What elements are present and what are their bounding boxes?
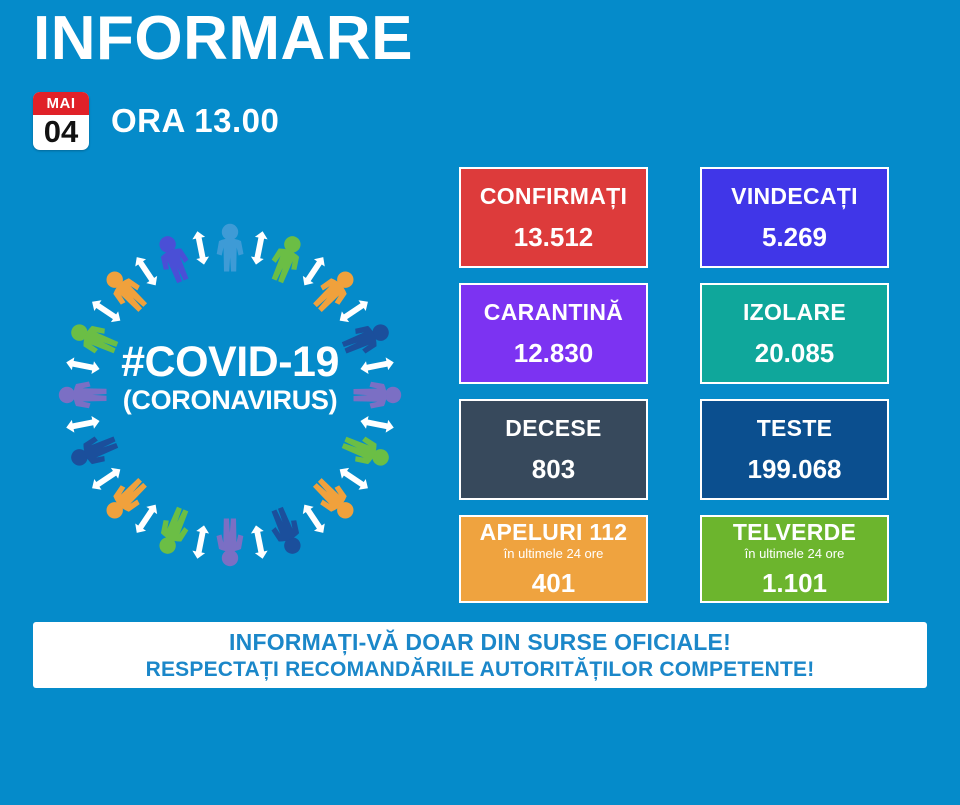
page-title: INFORMARE — [33, 8, 413, 70]
stat-card-decese: DECESE803 — [459, 399, 648, 500]
stat-card-telverde: TELVERDEîn ultimele 24 ore1.101 — [700, 515, 889, 603]
calendar-day: 04 — [33, 115, 89, 150]
stat-label: APELURI 112 — [480, 520, 628, 545]
stat-label: IZOLARE — [743, 300, 846, 325]
stat-label: CARANTINĂ — [484, 300, 623, 325]
stat-value: 5.269 — [762, 223, 827, 252]
stat-value: 12.830 — [514, 339, 594, 368]
official-sources-banner: INFORMAȚI-VĂ DOAR DIN SURSE OFICIALE! RE… — [33, 622, 927, 688]
stat-value: 803 — [532, 455, 575, 484]
footer: GUVERNUL ROMÂNIEI — [0, 700, 960, 805]
people-circle-icon: #COVID-19 (CORONAVIRUS) — [20, 185, 440, 605]
banner-line-2: RESPECTAȚI RECOMANDĂRILE AUTORITĂȚILOR C… — [146, 658, 815, 682]
stat-value: 13.512 — [514, 223, 594, 252]
stat-label: TELVERDE — [733, 520, 856, 545]
stat-sublabel: în ultimele 24 ore — [504, 547, 604, 561]
banner-line-1: INFORMAȚI-VĂ DOAR DIN SURSE OFICIALE! — [229, 629, 731, 656]
stat-card-grid: CONFIRMAȚI13.512VINDECAȚI5.269CARANTINĂ1… — [459, 167, 889, 603]
stat-sublabel: în ultimele 24 ore — [745, 547, 845, 561]
stat-card-teste: TESTE199.068 — [700, 399, 889, 500]
stat-value: 20.085 — [755, 339, 835, 368]
stat-value: 199.068 — [748, 455, 842, 484]
stat-card-carantin: CARANTINĂ12.830 — [459, 283, 648, 384]
infographic-page: INFORMARE MAI 04 ORA 13.00 — [0, 0, 960, 805]
stat-label: CONFIRMAȚI — [480, 184, 627, 209]
stat-card-confirma-i: CONFIRMAȚI13.512 — [459, 167, 648, 268]
stat-label: DECESE — [505, 416, 601, 441]
stat-label: VINDECAȚI — [731, 184, 858, 209]
calendar-icon: MAI 04 — [33, 92, 89, 150]
date-time-bar: MAI 04 ORA 13.00 — [33, 92, 279, 150]
stat-value: 401 — [532, 569, 575, 598]
hour-label: ORA 13.00 — [111, 102, 279, 140]
stat-label: TESTE — [757, 416, 833, 441]
stat-card-izolare: IZOLARE20.085 — [700, 283, 889, 384]
calendar-month: MAI — [33, 92, 89, 115]
stat-value: 1.101 — [762, 569, 827, 598]
stat-card-vindeca-i: VINDECAȚI5.269 — [700, 167, 889, 268]
stat-card-apeluri-112: APELURI 112în ultimele 24 ore401 — [459, 515, 648, 603]
